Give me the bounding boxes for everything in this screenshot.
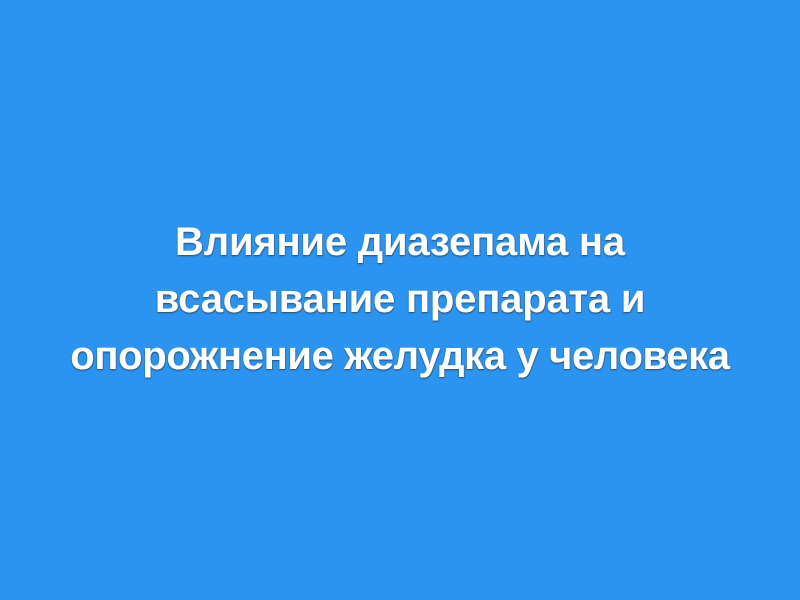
title-line-1: Влияние диазепама на [30,214,770,271]
slide-canvas: Влияние диазепама на всасывание препарат… [0,0,800,600]
slide-title: Влияние диазепама на всасывание препарат… [30,214,770,385]
title-line-3: опорожнение желудка у человека [30,328,770,385]
title-line-2: всасывание препарата и [30,271,770,328]
